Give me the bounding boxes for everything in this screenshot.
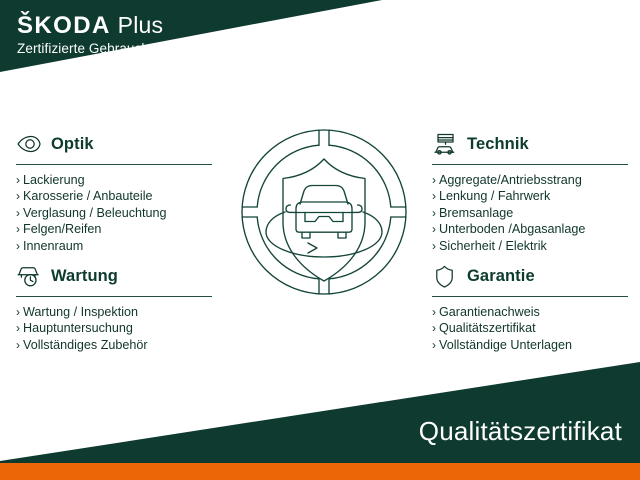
section-divider bbox=[16, 296, 212, 297]
list-item-label: Aggregate/Antriebsstrang bbox=[439, 172, 582, 188]
section-divider bbox=[432, 164, 628, 165]
chevron-icon: › bbox=[16, 172, 20, 188]
section-title: Optik bbox=[51, 136, 94, 153]
chevron-icon: › bbox=[432, 304, 436, 320]
car-lift-icon bbox=[432, 132, 458, 156]
brand-header: ŠKODA Plus Zertifizierte Gebrauchtwagen bbox=[17, 14, 193, 57]
section-divider bbox=[16, 164, 212, 165]
section-wartung: Wartung ›Wartung / Inspektion ›Hauptunte… bbox=[16, 263, 212, 353]
list-item-label: Karosserie / Anbauteile bbox=[23, 188, 153, 204]
section-garantie: Garantie ›Garantienachweis ›Qualitätszer… bbox=[432, 263, 628, 353]
shield-outline bbox=[283, 159, 365, 281]
car-clock-icon bbox=[16, 264, 42, 288]
list-item: ›Innenraum bbox=[16, 238, 212, 254]
list-item: ›Qualitätszertifikat bbox=[432, 320, 628, 336]
section-header: Technik bbox=[432, 131, 628, 157]
orbit-arrow-head bbox=[308, 243, 317, 253]
list-item: ›Karosserie / Anbauteile bbox=[16, 188, 212, 204]
list-item: ›Vollständiges Zubehör bbox=[16, 337, 212, 353]
list-item: ›Verglasung / Beleuchtung bbox=[16, 205, 212, 221]
brand-name: ŠKODA bbox=[17, 14, 111, 38]
brand-title-line: ŠKODA Plus bbox=[17, 14, 193, 38]
car-front bbox=[286, 186, 362, 239]
chevron-icon: › bbox=[432, 172, 436, 188]
footer-title: Qualitätszertifikat bbox=[419, 416, 622, 447]
section-list: ›Lackierung ›Karosserie / Anbauteile ›Ve… bbox=[16, 172, 212, 254]
list-item: ›Lackierung bbox=[16, 172, 212, 188]
section-title: Technik bbox=[467, 136, 529, 153]
brand-tagline: Zertifizierte Gebrauchtwagen bbox=[17, 42, 193, 57]
chevron-icon: › bbox=[432, 188, 436, 204]
list-item: ›Hauptuntersuchung bbox=[16, 320, 212, 336]
brand-suffix: Plus bbox=[118, 14, 164, 37]
section-header: Optik bbox=[16, 131, 212, 157]
list-item-label: Bremsanlage bbox=[439, 205, 513, 221]
list-item-label: Felgen/Reifen bbox=[23, 221, 101, 237]
list-item: ›Bremsanlage bbox=[432, 205, 628, 221]
section-title: Wartung bbox=[51, 268, 118, 285]
section-header: Garantie bbox=[432, 263, 628, 289]
list-item: ›Garantienachweis bbox=[432, 304, 628, 320]
chevron-icon: › bbox=[432, 221, 436, 237]
list-item-label: Wartung / Inspektion bbox=[23, 304, 138, 320]
car-shield-certification-emblem bbox=[238, 126, 410, 298]
list-item: ›Aggregate/Antriebsstrang bbox=[432, 172, 628, 188]
list-item-label: Unterboden /Abgasanlage bbox=[439, 221, 585, 237]
eye-icon bbox=[16, 132, 42, 156]
list-item-label: Sicherheit / Elektrik bbox=[439, 238, 547, 254]
list-item-label: Hauptuntersuchung bbox=[23, 320, 133, 336]
chevron-icon: › bbox=[432, 337, 436, 353]
chevron-icon: › bbox=[16, 337, 20, 353]
list-item: ›Unterboden /Abgasanlage bbox=[432, 221, 628, 237]
section-divider bbox=[432, 296, 628, 297]
chevron-icon: › bbox=[16, 238, 20, 254]
chevron-icon: › bbox=[432, 320, 436, 336]
list-item-label: Garantienachweis bbox=[439, 304, 540, 320]
chevron-icon: › bbox=[16, 221, 20, 237]
list-item-label: Vollständige Unterlagen bbox=[439, 337, 572, 353]
section-list: ›Garantienachweis ›Qualitätszertifikat ›… bbox=[432, 304, 628, 353]
list-item: ›Sicherheit / Elektrik bbox=[432, 238, 628, 254]
list-item-label: Verglasung / Beleuchtung bbox=[23, 205, 167, 221]
section-header: Wartung bbox=[16, 263, 212, 289]
list-item-label: Lackierung bbox=[23, 172, 85, 188]
chevron-icon: › bbox=[16, 320, 20, 336]
list-item: ›Lenkung / Fahrwerk bbox=[432, 188, 628, 204]
section-technik: Technik ›Aggregate/Antriebsstrang ›Lenku… bbox=[432, 131, 628, 254]
footer-band bbox=[0, 362, 640, 463]
section-title: Garantie bbox=[467, 268, 535, 285]
shield-icon bbox=[432, 264, 458, 288]
chevron-icon: › bbox=[432, 205, 436, 221]
list-item-label: Qualitätszertifikat bbox=[439, 320, 536, 336]
list-item: ›Vollständige Unterlagen bbox=[432, 337, 628, 353]
chevron-icon: › bbox=[16, 205, 20, 221]
list-item: ›Wartung / Inspektion bbox=[16, 304, 212, 320]
list-item-label: Vollständiges Zubehör bbox=[23, 337, 148, 353]
list-item: ›Felgen/Reifen bbox=[16, 221, 212, 237]
section-list: ›Aggregate/Antriebsstrang ›Lenkung / Fah… bbox=[432, 172, 628, 254]
chevron-icon: › bbox=[16, 188, 20, 204]
chevron-icon: › bbox=[432, 238, 436, 254]
chevron-icon: › bbox=[16, 304, 20, 320]
list-item-label: Innenraum bbox=[23, 238, 83, 254]
orange-bar bbox=[0, 463, 640, 480]
list-item-label: Lenkung / Fahrwerk bbox=[439, 188, 550, 204]
section-optik: Optik ›Lackierung ›Karosserie / Anbautei… bbox=[16, 131, 212, 254]
section-list: ›Wartung / Inspektion ›Hauptuntersuchung… bbox=[16, 304, 212, 353]
